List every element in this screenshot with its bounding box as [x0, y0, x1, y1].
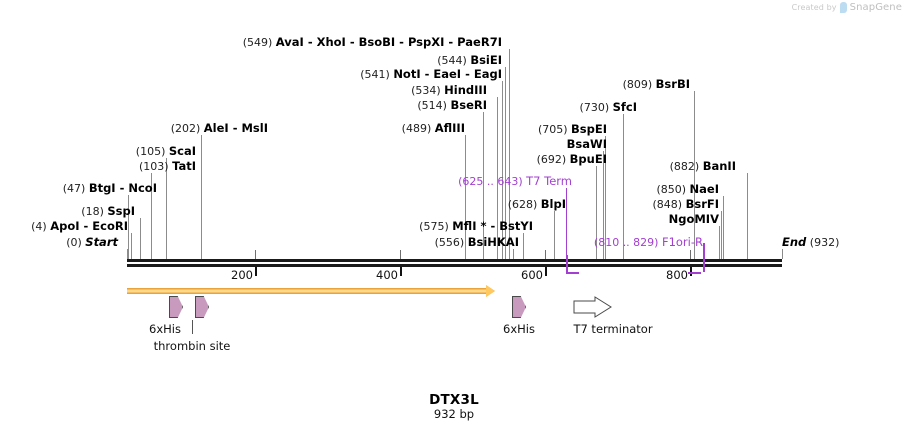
enzyme-pos-apoi: (4) — [31, 220, 50, 233]
enzyme-pos-alei: (202) — [171, 122, 204, 135]
enzyme-label-ngomiv[interactable]: NgoMIV — [669, 213, 719, 225]
enzyme-label-blpi[interactable]: (628) BlpI — [508, 198, 566, 211]
enzyme-pos-btgi: (47) — [63, 182, 89, 195]
enzyme-name-f1ori: F1ori-R — [662, 235, 703, 249]
enzyme-label-bsawi[interactable]: BsaWI — [567, 138, 607, 150]
feature-shape-t7-terminator[interactable] — [573, 296, 613, 318]
enzyme-pos-banii: (882) — [670, 160, 703, 173]
enzyme-name-blpi: BlpI — [541, 197, 566, 211]
axis-gridtick-200 — [255, 250, 256, 259]
leader-line-bsrfi — [721, 211, 722, 259]
enzyme-name-banii: BanII — [703, 159, 736, 173]
snapgene-sequence-map: Created by SnapGene (549) AvaI - XhoI - … — [0, 0, 908, 427]
leader-line-bsihkai — [513, 249, 514, 259]
enzyme-name-hindiii: HindIII — [444, 83, 487, 97]
enzyme-pos-afliii: (489) — [402, 122, 435, 135]
leader-line-bsrbi — [694, 91, 695, 259]
axis-gridtick-800 — [690, 250, 691, 259]
leader-line-t7term — [566, 188, 567, 259]
enzyme-name-bpuei: BpuEI — [570, 152, 607, 166]
enzyme-pos-blpi: (628) — [508, 198, 541, 211]
enzyme-label-avai[interactable]: (549) AvaI - XhoI - BsoBI - PspXI - PaeR… — [243, 36, 502, 49]
leader-line-blpi — [554, 211, 555, 259]
leader-line-naei — [723, 196, 724, 259]
enzyme-label-scai[interactable]: (105) ScaI — [136, 145, 196, 158]
enzyme-label-bspei[interactable]: (705) BspEI — [538, 123, 607, 136]
leader-line-sspi — [140, 218, 141, 259]
feature-label-thrombin-site: thrombin site — [154, 339, 231, 353]
enzyme-name-noti: NotI - EaeI - EagI — [393, 67, 502, 81]
enzyme-name-bseri: BseRI — [450, 98, 487, 112]
enzyme-label-bsrfi[interactable]: (848) BsrFI — [653, 198, 720, 211]
orf-arrow-head — [486, 285, 495, 297]
enzyme-label-bsiei[interactable]: (544) BsiEI — [437, 54, 502, 67]
enzyme-name-bsiei: BsiEI — [470, 53, 502, 67]
enzyme-label-noti[interactable]: (541) NotI - EaeI - EagI — [360, 68, 502, 81]
enzyme-name-scai: ScaI — [169, 144, 196, 158]
leader-line-start — [127, 249, 128, 259]
enzyme-pos-avai: (549) — [243, 36, 276, 49]
enzyme-label-alei[interactable]: (202) AleI - MslI — [171, 122, 268, 135]
enzyme-label-f1ori[interactable]: (810 .. 829) F1ori-R — [594, 236, 703, 249]
enzyme-pos-sfci: (730) — [580, 101, 613, 114]
axis-tick-600 — [545, 267, 547, 276]
enzyme-pos-start: (0) — [66, 236, 85, 249]
enzyme-label-afliii[interactable]: (489) AflIII — [402, 122, 465, 135]
enzyme-label-sspi[interactable]: (18) SspI — [81, 205, 135, 218]
enzyme-pos-bspei: (705) — [538, 123, 571, 136]
enzyme-pos-mfli: (575) — [419, 220, 452, 233]
enzyme-name-sspi: SspI — [107, 204, 135, 218]
feature-label-t7-terminator: T7 terminator — [573, 322, 652, 336]
enzyme-pos-bsrbi: (809) — [623, 78, 656, 91]
enzyme-label-t7term[interactable]: (625 .. 643) T7 Term — [458, 175, 572, 188]
enzyme-label-naei[interactable]: (850) NaeI — [656, 183, 719, 196]
leader-line-ngomiv — [719, 226, 720, 259]
feature-shape-6xhis-2[interactable] — [512, 296, 526, 318]
enzyme-label-bpuei[interactable]: (692) BpuEI — [537, 153, 607, 166]
axis-label-200: 200 — [231, 268, 253, 282]
enzyme-name-start: Start — [85, 235, 118, 249]
feature-shape-6xhis-1[interactable] — [169, 296, 183, 318]
enzyme-name-end: End — [782, 235, 806, 249]
enzyme-pos-sspi: (18) — [81, 205, 107, 218]
enzyme-pos-noti: (541) — [360, 68, 393, 81]
enzyme-name-ngomiv: NgoMIV — [669, 212, 719, 226]
enzyme-pos-scai: (105) — [136, 145, 169, 158]
f1ori-mark — [688, 272, 701, 274]
axis-label-600: 600 — [521, 268, 543, 282]
enzyme-name-naei: NaeI — [690, 182, 719, 196]
enzyme-label-end[interactable]: End (932) — [782, 236, 839, 249]
enzyme-pos-bsihkai: (556) — [435, 236, 468, 249]
enzyme-pos-hindiii: (534) — [411, 84, 444, 97]
enzyme-name-bspei: BspEI — [571, 122, 607, 136]
enzyme-name-avai: AvaI - XhoI - BsoBI - PspXI - PaeR7I — [276, 35, 502, 49]
orf-arrow[interactable] — [127, 288, 495, 294]
t7term-mark-stem — [566, 255, 568, 272]
leader-line-mfli — [523, 233, 524, 259]
snapgene-watermark: Created by SnapGene — [792, 2, 902, 13]
enzyme-name-bsrfi: BsrFI — [686, 197, 719, 211]
feature-stem-thrombin-site — [192, 320, 193, 334]
axis-tick-400 — [400, 267, 402, 276]
enzyme-label-tati[interactable]: (103) TatI — [139, 160, 196, 173]
enzyme-pos-end: (932) — [806, 236, 839, 249]
axis-gridtick-600 — [545, 250, 546, 259]
enzyme-label-btgi[interactable]: (47) BtgI - NcoI — [63, 182, 157, 195]
enzyme-name-bsrbi: BsrBI — [656, 77, 690, 91]
enzyme-pos-t7term: (625 .. 643) — [458, 175, 526, 188]
watermark-prefix: Created by — [792, 3, 837, 12]
leader-line-apoi — [131, 233, 132, 259]
enzyme-pos-bpuei: (692) — [537, 153, 570, 166]
feature-label-6xhis-1: 6xHis — [149, 322, 181, 336]
enzyme-pos-bsrfi: (848) — [653, 198, 686, 211]
axis-label-800: 800 — [666, 268, 688, 282]
enzyme-pos-bseri: (514) — [417, 99, 450, 112]
page-title: DTX3L — [0, 392, 908, 408]
sequence-length: 932 bp — [0, 407, 908, 421]
orf-arrow-body — [127, 288, 486, 294]
enzyme-name-bsihkai: BsiHKAI — [468, 235, 519, 249]
enzyme-name-tati: TatI — [172, 159, 196, 173]
enzyme-name-alei: AleI - MslI — [204, 121, 268, 135]
snapgene-logo-icon — [840, 2, 847, 13]
axis-gridtick-400 — [400, 250, 401, 259]
leader-line-scai — [166, 158, 167, 259]
axis-tick-200 — [255, 267, 257, 276]
enzyme-label-mfli[interactable]: (575) MflI * - BstYI — [419, 220, 533, 233]
enzyme-name-sfci: SfcI — [613, 100, 637, 114]
feature-shape-thrombin-site[interactable] — [195, 296, 209, 318]
enzyme-label-hindiii[interactable]: (534) HindIII — [411, 84, 487, 97]
enzyme-label-bseri[interactable]: (514) BseRI — [417, 99, 487, 112]
enzyme-name-apoi: ApoI - EcoRI — [50, 219, 128, 233]
enzyme-name-bsawi: BsaWI — [567, 137, 607, 151]
f1ori-mark-stem — [703, 243, 705, 272]
enzyme-pos-tati: (103) — [139, 160, 172, 173]
axis-label-400: 400 — [376, 268, 398, 282]
enzyme-pos-f1ori: (810 .. 829) — [594, 236, 662, 249]
enzyme-label-start[interactable]: (0) Start — [66, 236, 118, 249]
enzyme-name-afliii: AflIII — [435, 121, 465, 135]
t7term-mark — [566, 272, 579, 274]
enzyme-label-banii[interactable]: (882) BanII — [670, 160, 736, 173]
enzyme-pos-bsiei: (544) — [437, 54, 470, 67]
enzyme-label-bsihkai[interactable]: (556) BsiHKAI — [435, 236, 519, 249]
enzyme-label-apoi[interactable]: (4) ApoI - EcoRI — [31, 220, 128, 233]
ruler-line-top — [127, 259, 782, 262]
enzyme-label-sfci[interactable]: (730) SfcI — [580, 101, 637, 114]
enzyme-pos-naei: (850) — [656, 183, 689, 196]
watermark-brand: SnapGene — [850, 2, 902, 13]
enzyme-label-bsrbi[interactable]: (809) BsrBI — [623, 78, 690, 91]
leader-line-alei — [201, 135, 202, 259]
feature-label-6xhis-2: 6xHis — [503, 322, 535, 336]
leader-line-end — [782, 249, 783, 259]
ruler-line-bottom — [127, 264, 782, 267]
enzyme-name-t7term: T7 Term — [526, 174, 572, 188]
enzyme-name-btgi: BtgI - NcoI — [89, 181, 157, 195]
enzyme-name-mfli: MflI * - BstYI — [452, 219, 533, 233]
leader-line-banii — [747, 173, 748, 259]
